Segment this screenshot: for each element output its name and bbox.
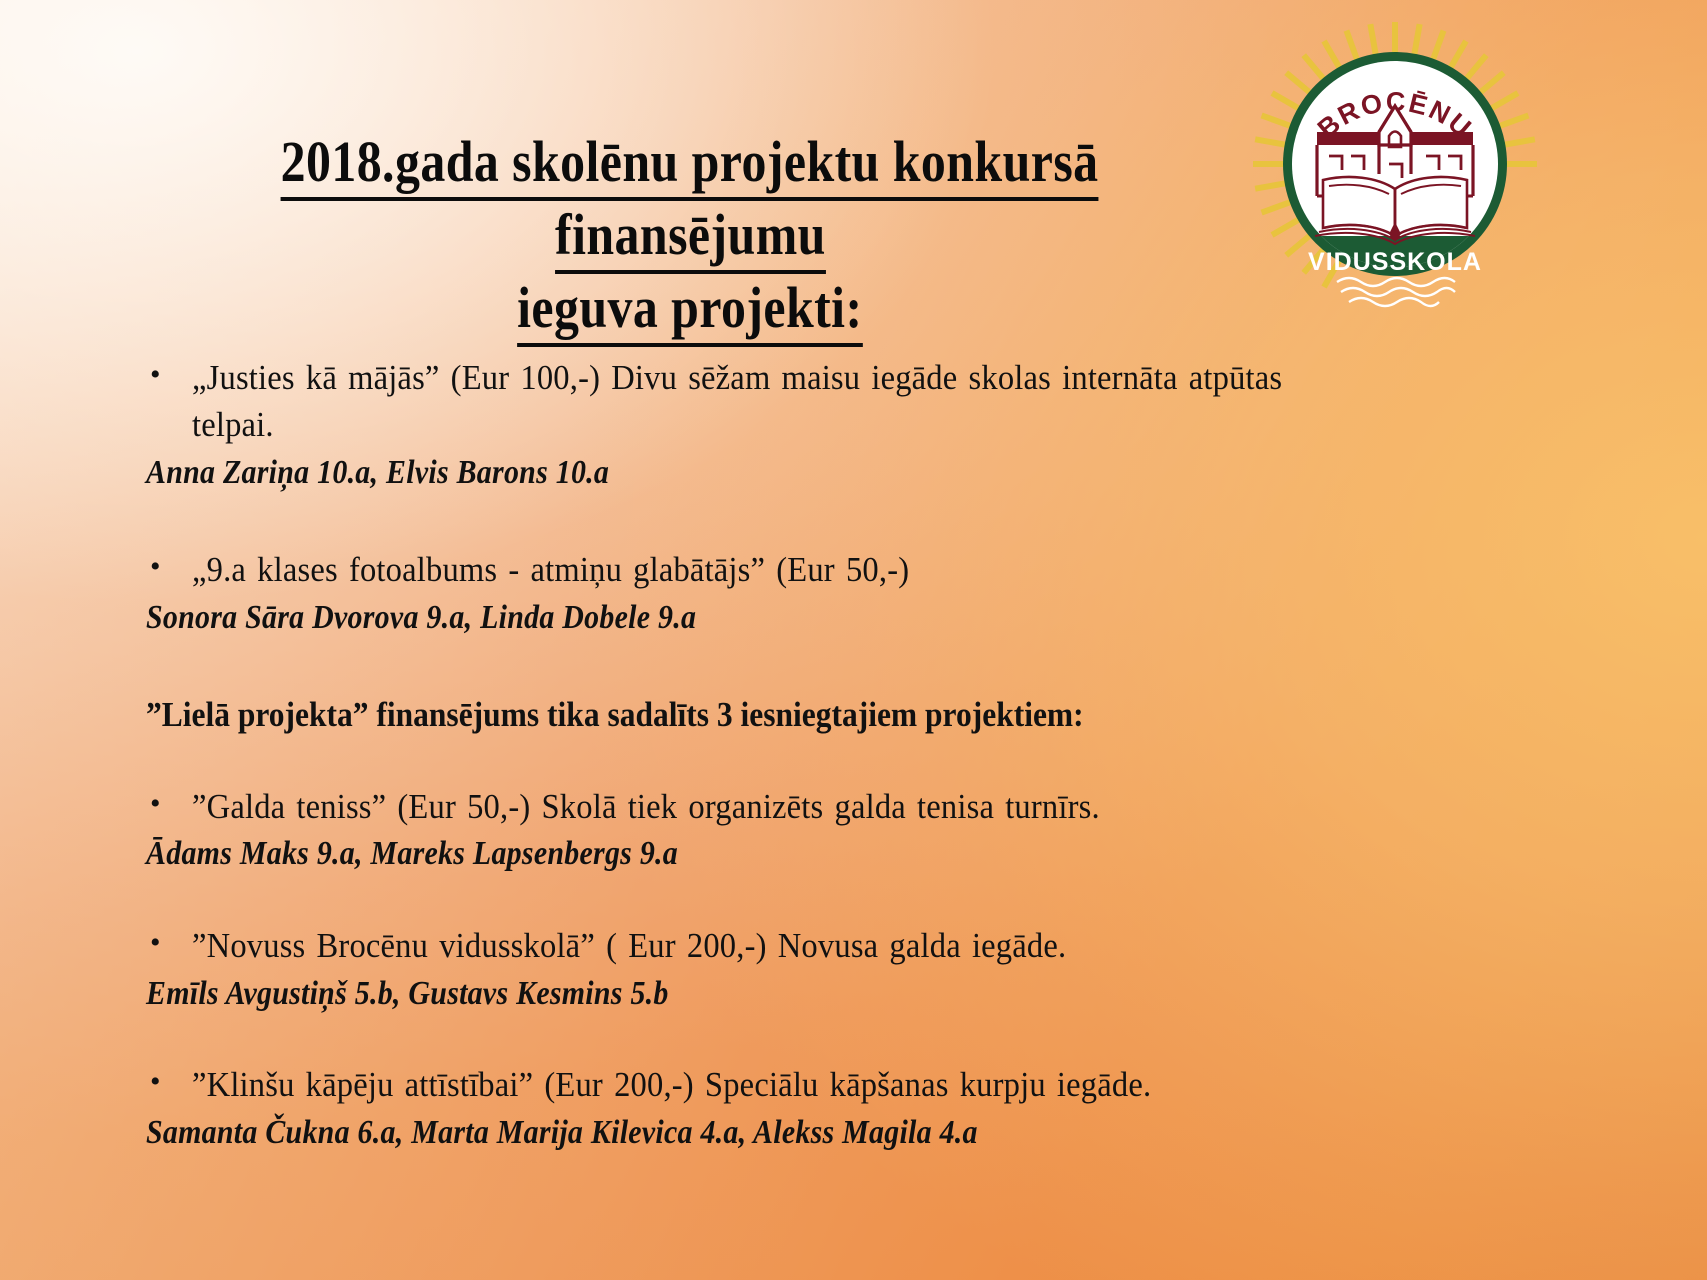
project-bullet-row: • „9.a klases fotoalbums - atmiņu glabāt… <box>146 547 1566 594</box>
project-bullet-row: • ”Galda teniss” (Eur 50,-) Skolā tiek o… <box>146 784 1566 831</box>
project-description-line: telpai. <box>192 402 1470 449</box>
project-bullet-row: • ”Klinšu kāpēju attīstībai” (Eur 200,-)… <box>146 1062 1566 1109</box>
project-authors: Ādams Maks 9.a, Mareks Lapsenbergs 9.a <box>146 832 1566 876</box>
project-description-line: „9.a klases fotoalbums - atmiņu glabātāj… <box>192 547 1470 594</box>
spacer <box>146 877 1566 923</box>
bullet-icon: • <box>146 547 192 587</box>
bullet-icon: • <box>146 1062 192 1102</box>
project-description: „Justies kā mājās” (Eur 100,-) Divu sēža… <box>192 355 1566 449</box>
project-description-line: ”Galda teniss” (Eur 50,-) Skolā tiek org… <box>192 784 1470 831</box>
project-entry: • ”Klinšu kāpēju attīstībai” (Eur 200,-)… <box>146 1062 1566 1155</box>
project-description: ”Klinšu kāpēju attīstībai” (Eur 200,-) S… <box>192 1062 1566 1109</box>
project-description: ”Galda teniss” (Eur 50,-) Skolā tiek org… <box>192 784 1566 831</box>
title-line-2: finansējumu <box>150 201 1230 274</box>
spacer <box>146 495 1566 547</box>
spacer <box>146 640 1566 692</box>
project-description-line: ”Klinšu kāpēju attīstībai” (Eur 200,-) S… <box>192 1062 1470 1109</box>
bullet-icon: • <box>146 923 192 963</box>
project-entry: • „9.a klases fotoalbums - atmiņu glabāt… <box>146 547 1566 640</box>
project-description: „9.a klases fotoalbums - atmiņu glabātāj… <box>192 547 1566 594</box>
presentation-slide: BROCĒNU <box>0 0 1707 1280</box>
project-entry: • „Justies kā mājās” (Eur 100,-) Divu sē… <box>146 355 1566 495</box>
project-description-line: „Justies kā mājās” (Eur 100,-) Divu sēža… <box>192 355 1470 402</box>
water-waves-icon <box>1337 278 1455 306</box>
logo-bottom-text: VIDUSSKOLA <box>1308 248 1482 276</box>
spacer <box>146 738 1566 784</box>
project-bullet-row: • ”Novuss Brocēnu vidusskolā” ( Eur 200,… <box>146 923 1566 970</box>
project-authors: Samanta Čukna 6.a, Marta Marija Kilevica… <box>146 1111 1566 1155</box>
project-bullet-row: • „Justies kā mājās” (Eur 100,-) Divu sē… <box>146 355 1566 449</box>
project-entry: • ”Novuss Brocēnu vidusskolā” ( Eur 200,… <box>146 923 1566 1016</box>
project-authors: Sonora Sāra Dvorova 9.a, Linda Dobele 9.… <box>146 596 1566 640</box>
title-line-3: ieguva projekti: <box>150 274 1230 347</box>
spacer <box>146 1016 1566 1062</box>
project-description-line: ”Novuss Brocēnu vidusskolā” ( Eur 200,-)… <box>192 923 1470 970</box>
project-entry: • ”Galda teniss” (Eur 50,-) Skolā tiek o… <box>146 784 1566 877</box>
school-logo: BROCĒNU <box>1245 14 1545 314</box>
project-authors: Emīls Avgustiņš 5.b, Gustavs Kesmins 5.b <box>146 972 1566 1016</box>
slide-body: • „Justies kā mājās” (Eur 100,-) Divu sē… <box>146 355 1566 1155</box>
project-description: ”Novuss Brocēnu vidusskolā” ( Eur 200,-)… <box>192 923 1566 970</box>
bullet-icon: • <box>146 355 192 395</box>
project-authors: Anna Zariņa 10.a, Elvis Barons 10.a <box>146 451 1566 495</box>
slide-title: 2018.gada skolēnu projektu konkursā fina… <box>150 128 1230 347</box>
big-project-note: ”Lielā projekta” finansējums tika sadalī… <box>146 692 1566 738</box>
title-line-1: 2018.gada skolēnu projektu konkursā <box>150 128 1230 201</box>
bullet-icon: • <box>146 784 192 824</box>
